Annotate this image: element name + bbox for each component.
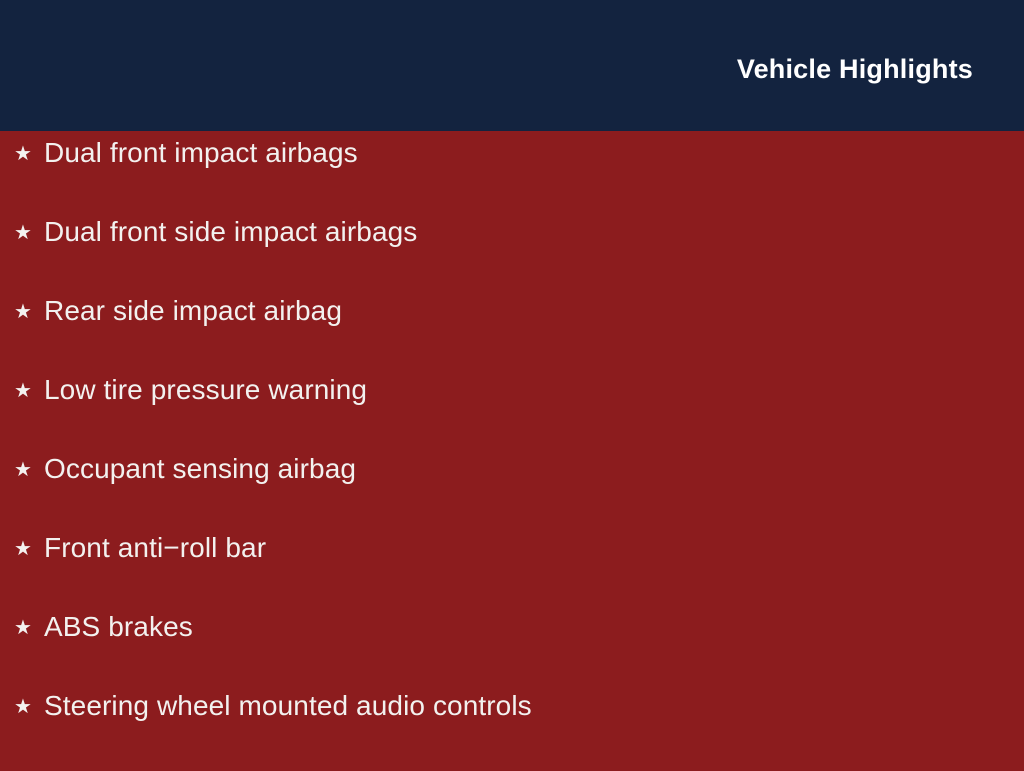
slide-body: ★ Dual front impact airbags ★ Dual front… xyxy=(0,131,1024,768)
list-item: ★ Dual front side impact airbags xyxy=(0,218,1024,297)
list-item: ★ Low tire pressure warning xyxy=(0,376,1024,455)
star-bullet-icon: ★ xyxy=(14,692,44,720)
slide-header-band: Vehicle Highlights xyxy=(0,0,1024,131)
vehicle-highlights-slide: Vehicle Highlights ★ Dual front impact a… xyxy=(0,0,1024,768)
page-title: Vehicle Highlights xyxy=(737,56,973,83)
list-item-label: ABS brakes xyxy=(44,613,193,641)
star-bullet-icon: ★ xyxy=(14,613,44,641)
list-item: ★ Dual front impact airbags xyxy=(0,139,1024,218)
list-item: ★ Front anti−roll bar xyxy=(0,534,1024,613)
list-item-label: Low tire pressure warning xyxy=(44,376,367,404)
list-item: ★ Occupant sensing airbag xyxy=(0,455,1024,534)
star-bullet-icon: ★ xyxy=(14,534,44,562)
star-bullet-icon: ★ xyxy=(14,455,44,483)
list-item-label: Front anti−roll bar xyxy=(44,534,266,562)
list-item-label: Dual front impact airbags xyxy=(44,139,358,167)
star-bullet-icon: ★ xyxy=(14,376,44,404)
list-item: ★ Steering wheel mounted audio controls xyxy=(0,692,1024,771)
list-item: ★ ABS brakes xyxy=(0,613,1024,692)
star-bullet-icon: ★ xyxy=(14,139,44,167)
list-item-label: Rear side impact airbag xyxy=(44,297,342,325)
vehicle-highlights-list: ★ Dual front impact airbags ★ Dual front… xyxy=(0,139,1024,771)
list-item: ★ Rear side impact airbag xyxy=(0,297,1024,376)
star-bullet-icon: ★ xyxy=(14,218,44,246)
star-bullet-icon: ★ xyxy=(14,297,44,325)
list-item-label: Steering wheel mounted audio controls xyxy=(44,692,532,720)
list-item-label: Dual front side impact airbags xyxy=(44,218,417,246)
list-item-label: Occupant sensing airbag xyxy=(44,455,356,483)
